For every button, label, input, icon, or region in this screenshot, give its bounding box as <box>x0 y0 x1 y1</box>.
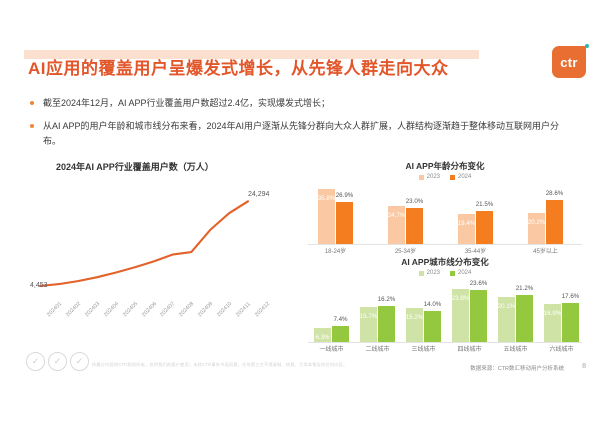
line-end-label: 24,294 <box>248 191 269 198</box>
bar-group: 16.9%17.6%六线城市 <box>544 303 579 342</box>
bar-value-label: 16.9% <box>544 310 562 317</box>
data-source-text: 数据来源：CTR数汇移动用户分析系统 <box>470 364 564 372</box>
bar: 26.9% <box>336 202 353 244</box>
legend-swatch-icon <box>419 175 424 180</box>
page-number: 8 <box>582 363 586 370</box>
bar-value-label: 28.6% <box>546 190 564 197</box>
bar: 16.9% <box>544 304 561 342</box>
bar: 28.6% <box>546 200 563 244</box>
bar: 20.2% <box>528 213 545 244</box>
age-chart-axis <box>308 244 582 245</box>
bar-value-label: 15.7% <box>360 313 378 320</box>
bar: 21.2% <box>516 295 533 342</box>
legend-swatch-icon <box>450 271 455 276</box>
bar-value-label: 17.6% <box>562 293 580 300</box>
axis-category-label: 35-44岁 <box>465 246 486 255</box>
bar: 23.6% <box>470 290 487 342</box>
legend-item: 2023 <box>419 270 440 276</box>
bar: 24.7% <box>388 206 405 244</box>
list-item: 截至2024年12月，AI APP行业覆盖用户数超过2.4亿，实现爆发式增长； <box>30 96 575 111</box>
bar-group: 19.4%21.5%35-44岁 <box>458 211 493 244</box>
bar-value-label: 20.1% <box>498 303 516 310</box>
bar-value-label: 14.0% <box>424 301 442 308</box>
line-start-label: 4,453 <box>30 282 48 289</box>
bar-value-label: 23.8% <box>452 295 470 302</box>
city-chart-axis <box>308 342 582 343</box>
axis-category-label: 一线城市 <box>319 344 343 353</box>
line-chart-panel: 2024年AI APP行业覆盖用户数（万人） 4,453 24,294 2024… <box>26 160 308 360</box>
line-chart-svg <box>26 180 308 315</box>
bar: 7.4% <box>332 326 349 342</box>
bar: 14.0% <box>424 311 441 342</box>
check-badge-icon: ✓ <box>26 352 45 371</box>
bar-value-label: 21.5% <box>476 201 494 208</box>
bar-group: 20.1%21.2%五线城市 <box>498 295 533 342</box>
bar: 17.6% <box>562 303 579 342</box>
bar: 19.4% <box>458 214 475 244</box>
age-chart-panel: AI APP年龄分布变化 20232024 35.8%26.9%18-24岁24… <box>300 160 590 258</box>
legend-label: 2024 <box>458 174 471 180</box>
check-badge-icon: ✓ <box>48 352 67 371</box>
legend-label: 2023 <box>427 270 440 276</box>
city-chart-panel: AI APP城市线分布变化 20232024 6.3%7.4%一线城市15.7%… <box>300 256 590 356</box>
footer-badge-group: ✓ ✓ ✓ <box>26 352 89 371</box>
bar-value-label: 19.4% <box>458 220 476 227</box>
bar-group: 20.2%28.6%45岁以上 <box>528 200 563 244</box>
bar-value-label: 21.2% <box>516 285 534 292</box>
logo-dot-icon <box>585 44 589 48</box>
axis-category-label: 二线城市 <box>365 344 389 353</box>
bar-value-label: 15.2% <box>406 314 424 321</box>
bar-value-label: 24.7% <box>388 212 406 219</box>
bar: 23.0% <box>406 208 423 244</box>
legend-swatch-icon <box>450 175 455 180</box>
ctr-logo: ctr <box>552 46 586 78</box>
bar: 21.5% <box>476 211 493 244</box>
age-chart-title: AI APP年龄分布变化 <box>300 160 590 172</box>
legend-item: 2024 <box>450 270 471 276</box>
axis-category-label: 五线城市 <box>503 344 527 353</box>
bar: 15.7% <box>360 307 377 342</box>
bar: 16.2% <box>378 306 395 342</box>
axis-category-label: 18-24岁 <box>325 246 346 255</box>
bar-value-label: 23.6% <box>470 280 488 287</box>
axis-category-label: 25-34岁 <box>395 246 416 255</box>
bar-group: 15.7%16.2%二线城市 <box>360 306 395 342</box>
bar-group: 35.8%26.9%18-24岁 <box>318 189 353 245</box>
bar: 23.8% <box>452 289 469 342</box>
axis-category-label: 三线城市 <box>411 344 435 353</box>
logo-text: ctr <box>552 46 586 78</box>
line-chart-xaxis: 2024012024022024032024042024052024062024… <box>26 312 308 346</box>
bar-value-label: 6.3% <box>315 334 329 341</box>
check-badge-icon: ✓ <box>70 352 89 371</box>
disclaimer-text: 所属分内容的CTR版权所有，仅供我们的客户使用；未经CTR事先书面同意，任何第三… <box>92 362 392 368</box>
bar: 20.1% <box>498 297 515 342</box>
bar-group: 15.2%14.0%三线城市 <box>406 308 441 342</box>
bar-value-label: 26.9% <box>336 192 354 199</box>
legend-swatch-icon <box>419 271 424 276</box>
slide-canvas: AI应用的覆盖用户呈爆发式增长，从先锋人群走向大众 ctr 截至2024年12月… <box>0 0 600 424</box>
bar-group: 24.7%23.0%25-34岁 <box>388 206 423 244</box>
bar: 6.3% <box>314 328 331 342</box>
bar: 15.2% <box>406 308 423 342</box>
axis-category-label: 45岁以上 <box>533 246 558 255</box>
bar-value-label: 7.4% <box>333 316 347 323</box>
list-item: 从AI APP的用户年龄和城市线分布来看，2024年AI用户逐渐从先锋分群向大众… <box>30 119 575 149</box>
axis-category-label: 四线城市 <box>457 344 481 353</box>
bar: 35.8% <box>318 189 335 245</box>
age-chart-legend: 20232024 <box>300 174 590 180</box>
bar-value-label: 16.2% <box>378 296 396 303</box>
line-chart-title: 2024年AI APP行业覆盖用户数（万人） <box>56 160 214 173</box>
bar-value-label: 35.8% <box>318 195 336 202</box>
bullet-list: 截至2024年12月，AI APP行业覆盖用户数超过2.4亿，实现爆发式增长； … <box>30 96 575 157</box>
bar-value-label: 20.2% <box>528 219 546 226</box>
city-chart-legend: 20232024 <box>300 270 590 276</box>
legend-label: 2023 <box>427 174 440 180</box>
bar-group: 23.8%23.6%四线城市 <box>452 289 487 342</box>
page-title: AI应用的覆盖用户呈爆发式增长，从先锋人群走向大众 <box>28 54 449 79</box>
city-chart-title: AI APP城市线分布变化 <box>300 256 590 268</box>
legend-item: 2024 <box>450 174 471 180</box>
legend-label: 2024 <box>458 270 471 276</box>
axis-category-label: 六线城市 <box>549 344 573 353</box>
legend-item: 2023 <box>419 174 440 180</box>
bar-group: 6.3%7.4%一线城市 <box>314 326 349 342</box>
bar-value-label: 23.0% <box>406 198 424 205</box>
